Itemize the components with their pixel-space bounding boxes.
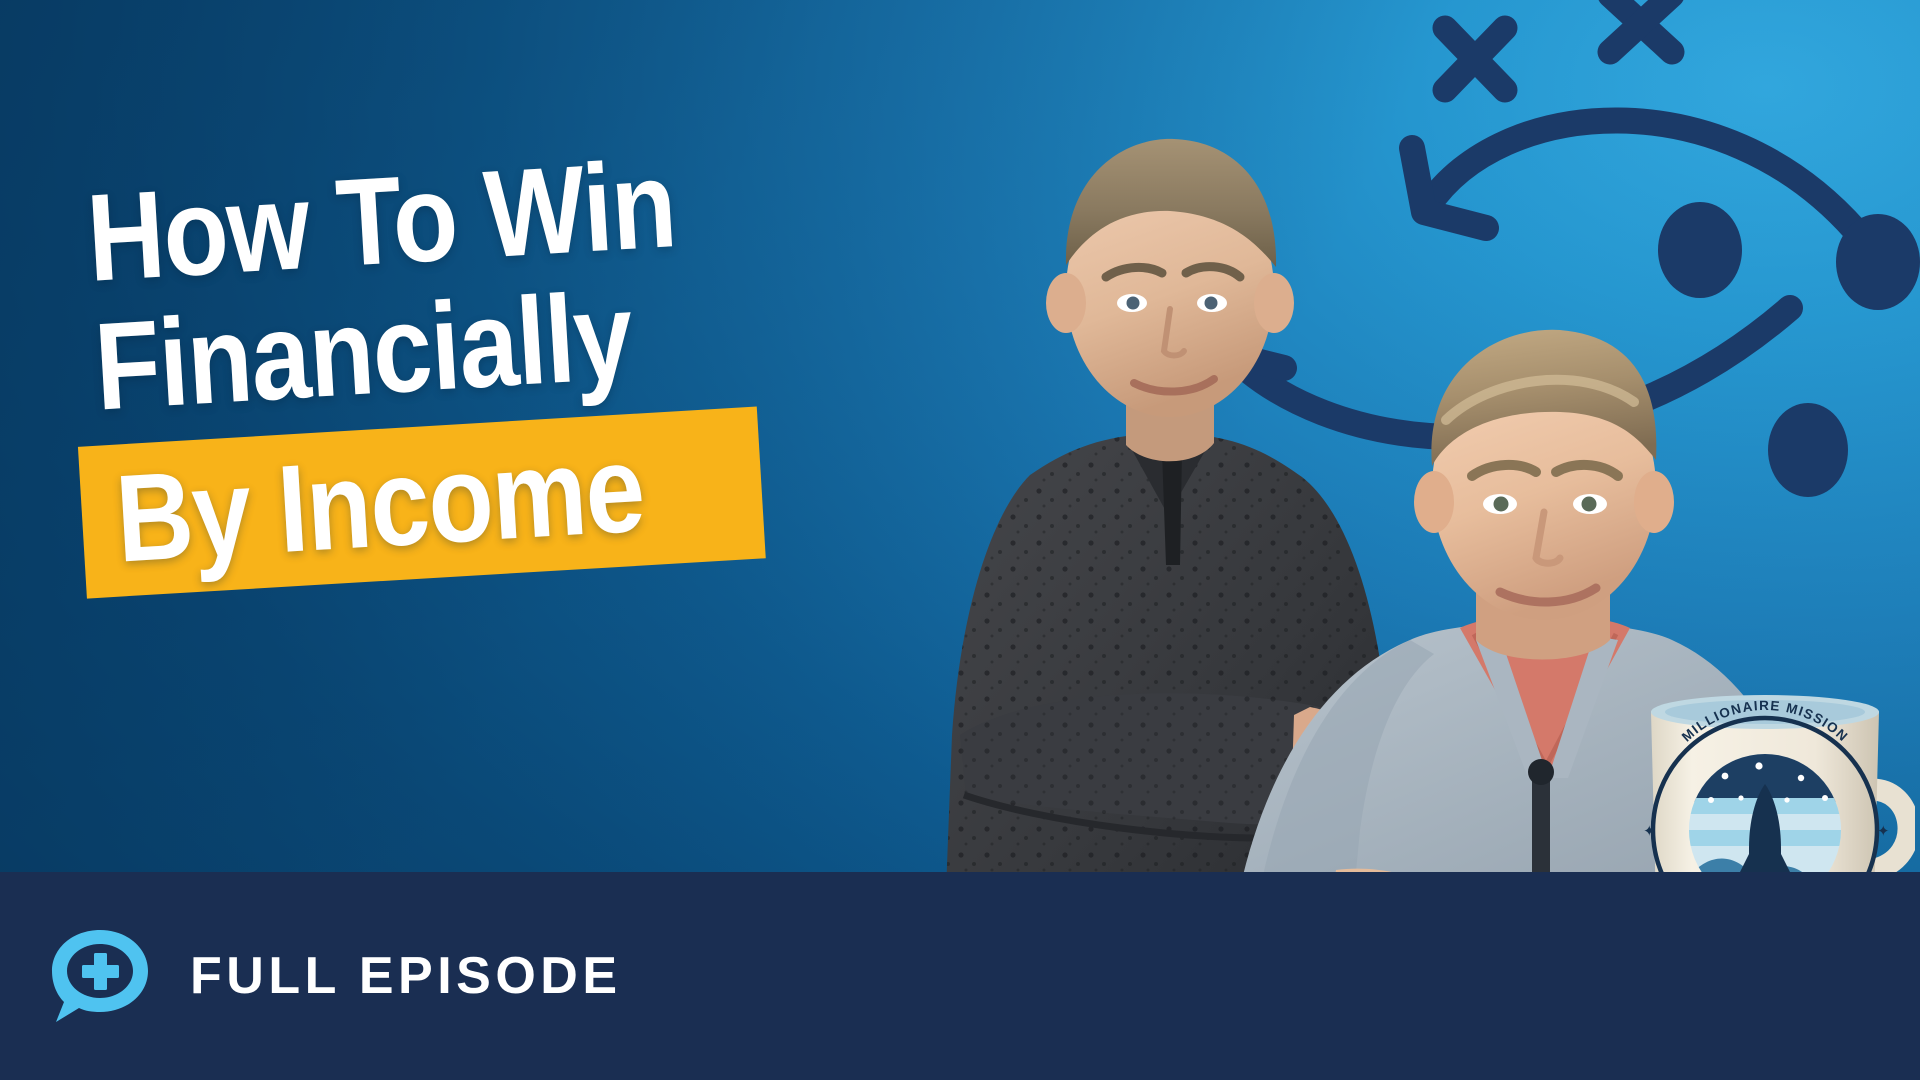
title-line-3: By Income <box>100 410 658 601</box>
svg-text:✦: ✦ <box>1877 823 1890 840</box>
svg-text:✦: ✦ <box>1643 823 1656 840</box>
chat-bubble-plus-icon <box>46 922 154 1030</box>
thumbnail-stage: MILLIONAIRE MISSION MONEY GUY SHOW ✦ ✦ H… <box>0 0 1920 1080</box>
bottom-bar: FULL EPISODE <box>0 872 1920 1080</box>
title-block: How To Win Financially By Income <box>84 120 1087 602</box>
full-episode-label: FULL EPISODE <box>190 946 622 1006</box>
